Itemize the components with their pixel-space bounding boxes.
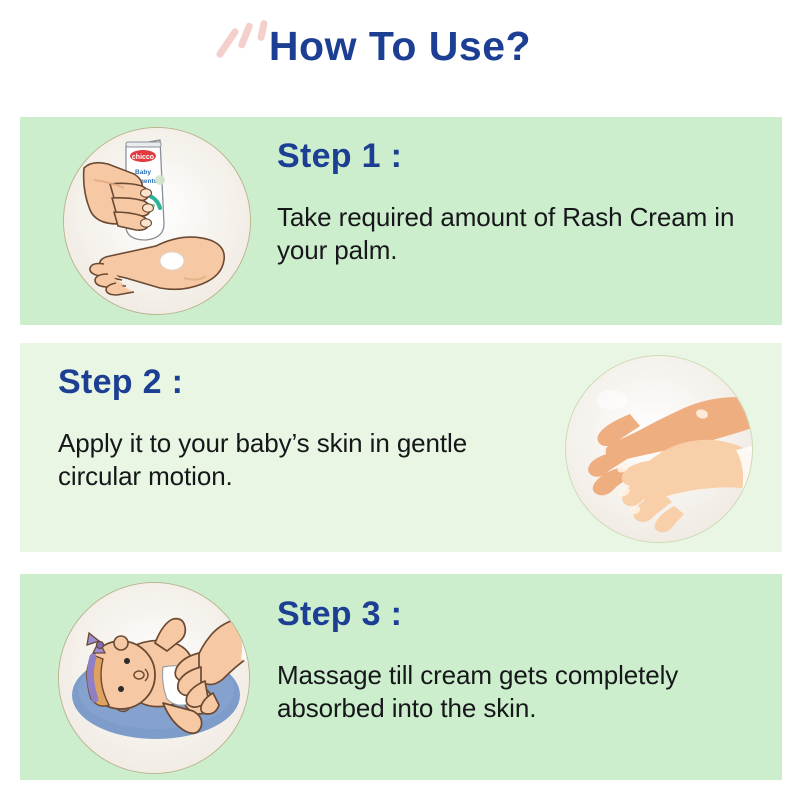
- step-3-body: Massage till cream gets completely absor…: [277, 659, 772, 726]
- svg-text:Baby: Baby: [135, 169, 151, 176]
- baby-on-mat-with-adult-hand-icon: [59, 583, 249, 773]
- step-3-text: Step 3 : Massage till cream gets complet…: [277, 597, 772, 725]
- step-1-body: Take required amount of Rash Cream in yo…: [277, 201, 772, 268]
- step-1-illustration: chicco Baby Moments Nappy Cream: [63, 127, 251, 315]
- step-2-body: Apply it to your baby’s skin in gentle c…: [58, 427, 553, 494]
- svg-text:chicco: chicco: [132, 154, 154, 161]
- step-1-text: Step 1 : Take required amount of Rash Cr…: [277, 139, 772, 267]
- page-title: How To Use?: [0, 26, 800, 67]
- hand-squeezing-cream-tube-icon: chicco Baby Moments Nappy Cream: [64, 128, 250, 314]
- two-hands-rubbing-cream-icon: [566, 356, 752, 542]
- title-area: How To Use?: [0, 0, 800, 117]
- step-panel-2: Step 2 : Apply it to your baby’s skin in…: [20, 343, 782, 552]
- step-2-illustration: [565, 355, 753, 543]
- step-3-illustration: [58, 582, 250, 774]
- step-2-heading: Step 2 :: [58, 365, 553, 401]
- step-2-text: Step 2 : Apply it to your baby’s skin in…: [58, 365, 553, 493]
- step-3-heading: Step 3 :: [277, 597, 772, 633]
- step-1-heading: Step 1 :: [277, 139, 772, 175]
- step-panel-1: chicco Baby Moments Nappy Cream: [20, 117, 782, 325]
- step-panel-3: Step 3 : Massage till cream gets complet…: [20, 574, 782, 780]
